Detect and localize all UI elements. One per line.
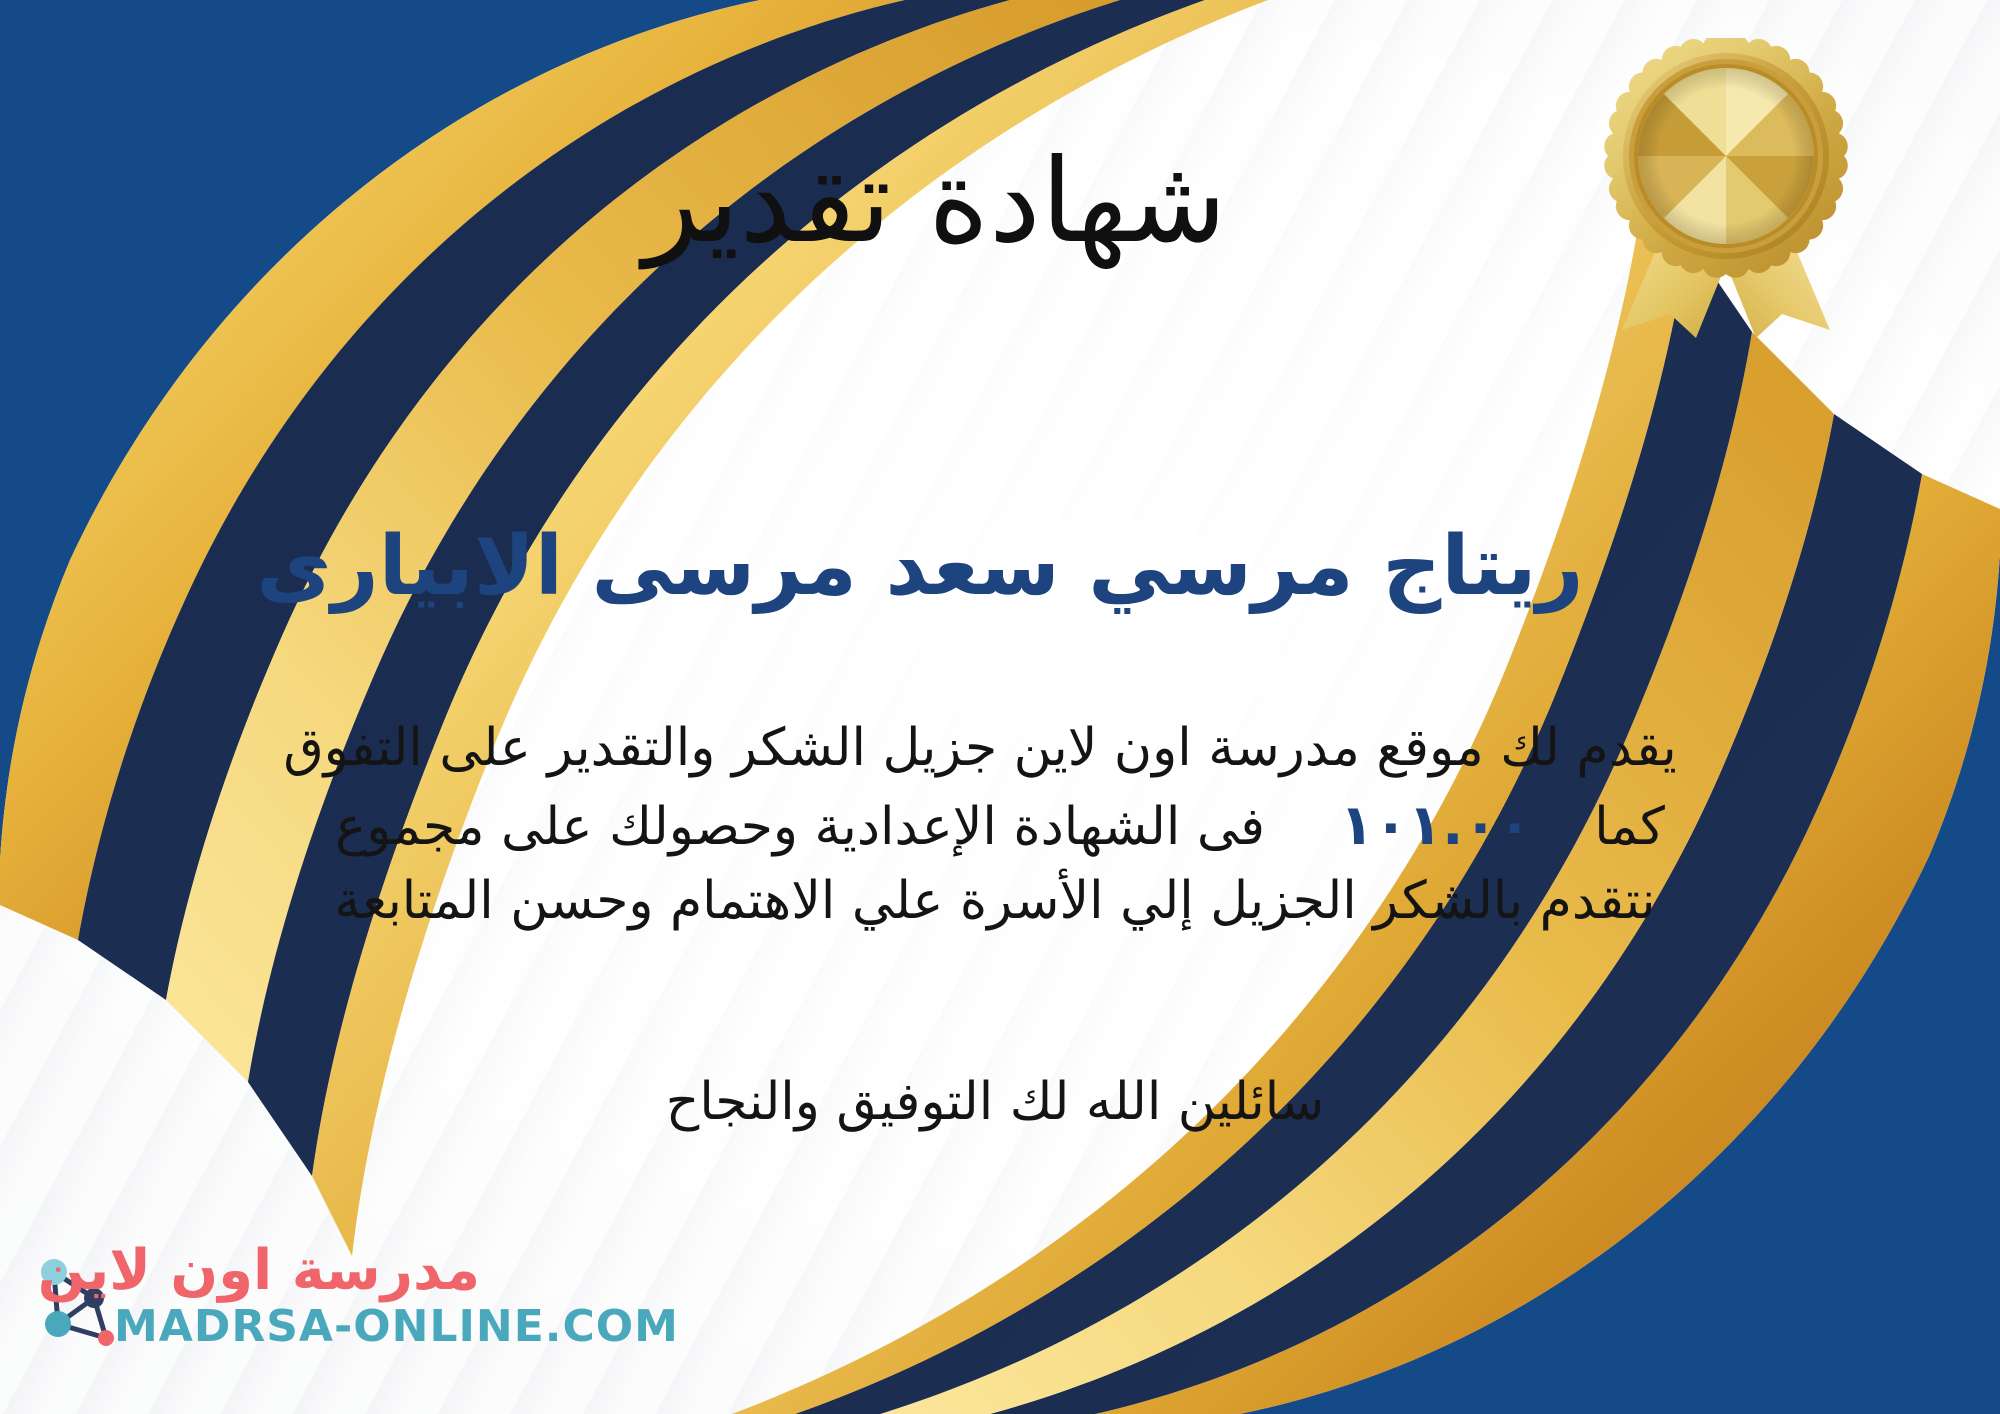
recipient-name: ريتاج مرسي سعد مرسى الابيارى bbox=[0, 516, 1840, 619]
body-line-3: نتقدم بالشكر الجزيل إلي الأسرة علي الاهت… bbox=[40, 865, 1960, 939]
page-title: شهادة تقدير bbox=[0, 138, 1870, 266]
brand-logo[interactable]: مدرسة اون لاين MADRSA-ONLINE.COM bbox=[18, 1232, 488, 1392]
brand-name-arabic: مدرسة اون لاين bbox=[114, 1240, 480, 1303]
certificate-body-text: يقدم لك موقع مدرسة اون لاين جزيل الشكر و… bbox=[40, 712, 1960, 939]
certificate-content: شهادة تقدير ريتاج مرسي سعد مرسى الابيارى… bbox=[0, 0, 2000, 1414]
body-line-2-suffix: كما bbox=[1594, 797, 1665, 857]
brand-text-rows: مدرسة اون لاين MADRSA-ONLINE.COM bbox=[114, 1240, 480, 1351]
body-line-2-prefix: فى الشهادة الإعدادية وحصولك على مجموع bbox=[335, 797, 1265, 857]
body-line-1: يقدم لك موقع مدرسة اون لاين جزيل الشكر و… bbox=[40, 712, 1960, 786]
closing-line: سائلين الله لك التوفيق والنجاح bbox=[40, 1066, 1960, 1139]
certificate-canvas: شهادة تقدير ريتاج مرسي سعد مرسى الابيارى… bbox=[0, 0, 2000, 1414]
brand-name-url: MADRSA-ONLINE.COM bbox=[114, 1303, 480, 1351]
body-line-2: كما ١٠١.٠٠ فى الشهادة الإعدادية وحصولك ع… bbox=[40, 786, 1960, 866]
grade-value: ١٠١.٠٠ bbox=[1282, 786, 1578, 866]
